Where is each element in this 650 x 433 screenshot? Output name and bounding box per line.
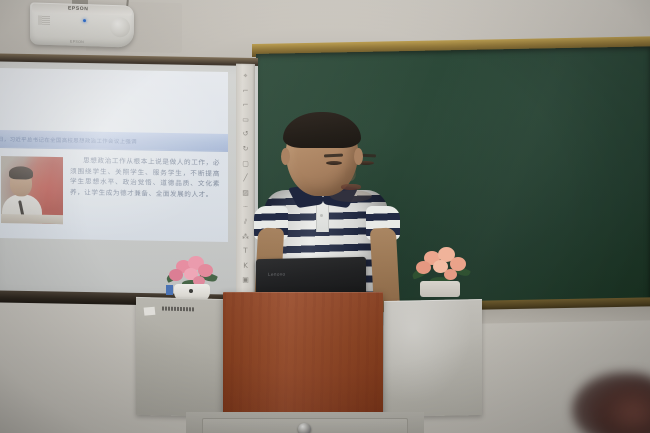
presenter-eye-left <box>326 161 342 165</box>
shirt-button <box>320 214 323 217</box>
slide-photo-hair <box>9 166 33 179</box>
shape-corner-icon[interactable]: ⌐ <box>239 99 252 112</box>
text-tool-icon[interactable]: T <box>239 245 252 258</box>
slide-embedded-photo <box>1 156 63 224</box>
slide-banner-text: 日，习近平总书记在全国高校思想政治工作会议上强调 <box>0 134 137 144</box>
eraser-icon[interactable]: ▨ <box>239 186 252 199</box>
projector-model-label: EPSON <box>70 40 84 44</box>
presenter-ear-left <box>281 148 290 165</box>
line-icon[interactable]: ╱ <box>239 172 252 185</box>
flower-pot-drain-icon <box>189 289 193 293</box>
dashed-line-icon[interactable]: ┄ <box>239 201 252 214</box>
flower-arrangement-right <box>410 245 474 297</box>
projector-vent-icon <box>38 16 50 25</box>
flower-pot-right <box>420 281 460 297</box>
projector-brand-label: EPSON <box>68 6 89 13</box>
classroom-photo-scene: 日，习近平总书记在全国高校思想政治工作会议上强调 思想政治工作从根本上说是做人的… <box>0 0 650 433</box>
flower-arrangement-left <box>160 252 222 302</box>
epson-projector: EPSON EPSON <box>30 2 134 47</box>
rectangle-icon[interactable]: ▢ <box>239 157 252 170</box>
projector-lens-icon <box>110 17 130 38</box>
presenter-eyebrow-left <box>324 154 343 158</box>
slide-body-chinese: 思想政治工作从根本上说是做人的工作，必须围绕学生、关照学生、服务学生，不断提高学… <box>70 156 220 198</box>
interactive-whiteboard-toolbar[interactable]: ⌖ ⌐ ⌐ ▭ ↺ ↻ ▢ ╱ ▨ ┄ ⫽ ⁂ T K ▣ <box>236 64 255 300</box>
blue-tag-icon <box>166 285 173 295</box>
grid-icon[interactable]: ▣ <box>239 274 252 287</box>
page-icon[interactable]: ▭ <box>239 114 252 127</box>
lectern-right-panel <box>384 299 482 417</box>
cursor-select-icon[interactable]: ⌖ <box>239 70 252 83</box>
drawer-lock-icon[interactable] <box>298 423 311 433</box>
presenter-ear-right <box>354 148 363 165</box>
undo-icon[interactable]: ↺ <box>239 128 252 141</box>
pen-icon[interactable]: ⌐ <box>239 84 252 97</box>
presenter-chin <box>330 190 372 202</box>
slide-photo-desk <box>1 214 63 224</box>
projector-power-led-icon <box>83 19 86 22</box>
lectern-sticker <box>144 307 156 316</box>
lectern-wooden-front-panel <box>223 292 383 416</box>
highlighter-icon[interactable]: ⫽ <box>239 216 252 229</box>
lectern-label-strip <box>162 307 194 312</box>
presenter-nose <box>345 166 356 181</box>
lectern-left-panel <box>136 297 226 417</box>
slide-body-text: 思想政治工作从根本上说是做人的工作，必须围绕学生、关照学生、服务学生，不断提高学… <box>70 155 220 200</box>
keyboard-icon[interactable]: K <box>239 259 252 272</box>
spray-icon[interactable]: ⁂ <box>239 230 252 243</box>
redo-icon[interactable]: ↻ <box>239 143 252 156</box>
projected-slide: 日，习近平总书记在全国高校思想政治工作会议上强调 思想政治工作从根本上说是做人的… <box>0 68 228 242</box>
presenter-hair <box>283 112 361 148</box>
laptop-brand-label: Lenovo <box>268 272 285 277</box>
